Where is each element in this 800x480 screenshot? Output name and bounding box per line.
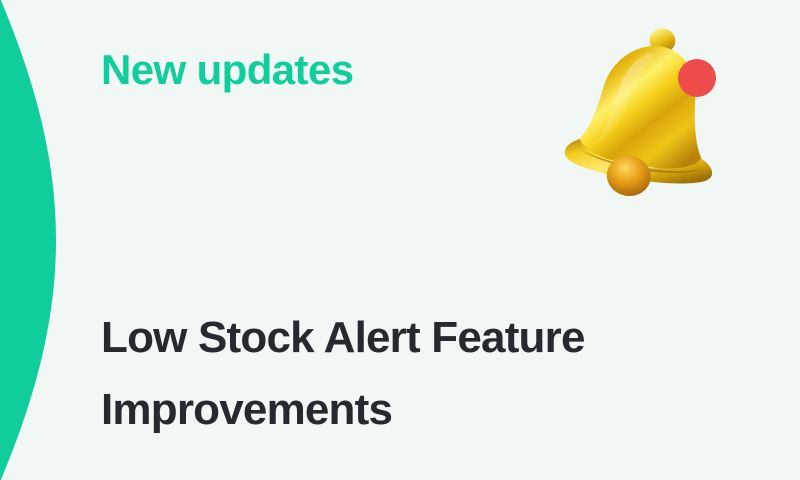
page-title: Low Stock Alert Feature Improvements [101, 302, 721, 446]
notification-dot [678, 59, 716, 97]
bell-group [559, 22, 724, 202]
green-arc-path [0, 0, 56, 480]
new-updates-banner: New updates [0, 0, 800, 480]
kicker-label: New updates [101, 46, 353, 94]
bell-emoji [556, 22, 724, 202]
